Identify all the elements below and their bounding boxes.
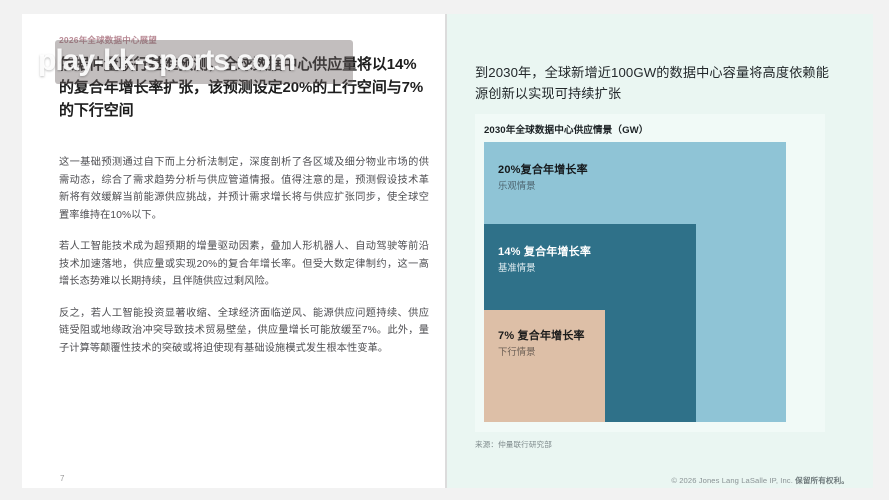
- body-paragraph: 反之，若人工智能投资显著收缩、全球经济面临逆风、能源供应问题持续、供应链受阻或地…: [59, 305, 429, 358]
- page-gutter-left: [0, 0, 22, 500]
- copyright-cn: 保留所有权利。: [795, 476, 849, 485]
- body-column: 这一基础预测通过自下而上分析法制定，深度剖析了各区域及细分物业市场的供需动态，综…: [59, 154, 429, 371]
- document-page: 2026年全球数据中心展望 依据仲量联行基准预测，全球数据中心供应量将以14%的…: [0, 0, 889, 500]
- chart-band-downside: 7% 复合年增长率 下行情景: [484, 310, 605, 422]
- copyright-notice: © 2026 Jones Lang LaSalle IP, Inc. 保留所有权…: [671, 475, 849, 486]
- body-paragraph: 若人工智能技术成为超预期的增量驱动因素，叠加人形机器人、自动驾驶等前沿技术加速落…: [59, 238, 429, 291]
- chart-band-scenario-base: 基准情景: [498, 262, 591, 274]
- chart-band-label-optimistic: 20%复合年增长率 乐观情景: [498, 164, 588, 192]
- watermark-text: play-kk-sports.com: [38, 44, 378, 78]
- chart-source-note: 来源：仲量联行研究部: [475, 439, 552, 450]
- copyright-en: © 2026 Jones Lang LaSalle IP, Inc.: [671, 476, 793, 485]
- right-page-panel: 到2030年，全球新增近100GW的数据中心容量将高度依赖能源创新以实现可持续扩…: [447, 14, 873, 488]
- page-gutter-top: [0, 0, 889, 14]
- chart-band-scenario-optimistic: 乐观情景: [498, 180, 588, 192]
- page-gutter-right: [873, 0, 889, 500]
- chart-band-cagr-downside: 7% 复合年增长率: [498, 330, 585, 344]
- body-paragraph: 这一基础预测通过自下而上分析法制定，深度剖析了各区域及细分物业市场的供需动态，综…: [59, 154, 429, 224]
- chart-band-label-base: 14% 复合年增长率 基准情景: [498, 246, 591, 274]
- chart-band-cagr-base: 14% 复合年增长率: [498, 246, 591, 260]
- chart-card: 2030年全球数据中心供应情景（GW） 20%复合年增长率 乐观情景 14% 复…: [475, 114, 825, 432]
- left-page-panel: 2026年全球数据中心展望 依据仲量联行基准预测，全球数据中心供应量将以14%的…: [22, 14, 445, 488]
- page-gutter-bottom: [0, 488, 889, 500]
- chart-plot-area: 20%复合年增长率 乐观情景 14% 复合年增长率 基准情景 7% 复合年增长率: [484, 142, 814, 422]
- chart-band-cagr-optimistic: 20%复合年增长率: [498, 164, 588, 178]
- chart-band-label-downside: 7% 复合年增长率 下行情景: [498, 330, 585, 358]
- chart-band-scenario-downside: 下行情景: [498, 346, 585, 358]
- page-number: 7: [60, 474, 64, 483]
- right-page-title: 到2030年，全球新增近100GW的数据中心容量将高度依赖能源创新以实现可持续扩…: [475, 62, 840, 105]
- chart-title: 2030年全球数据中心供应情景（GW）: [484, 122, 648, 136]
